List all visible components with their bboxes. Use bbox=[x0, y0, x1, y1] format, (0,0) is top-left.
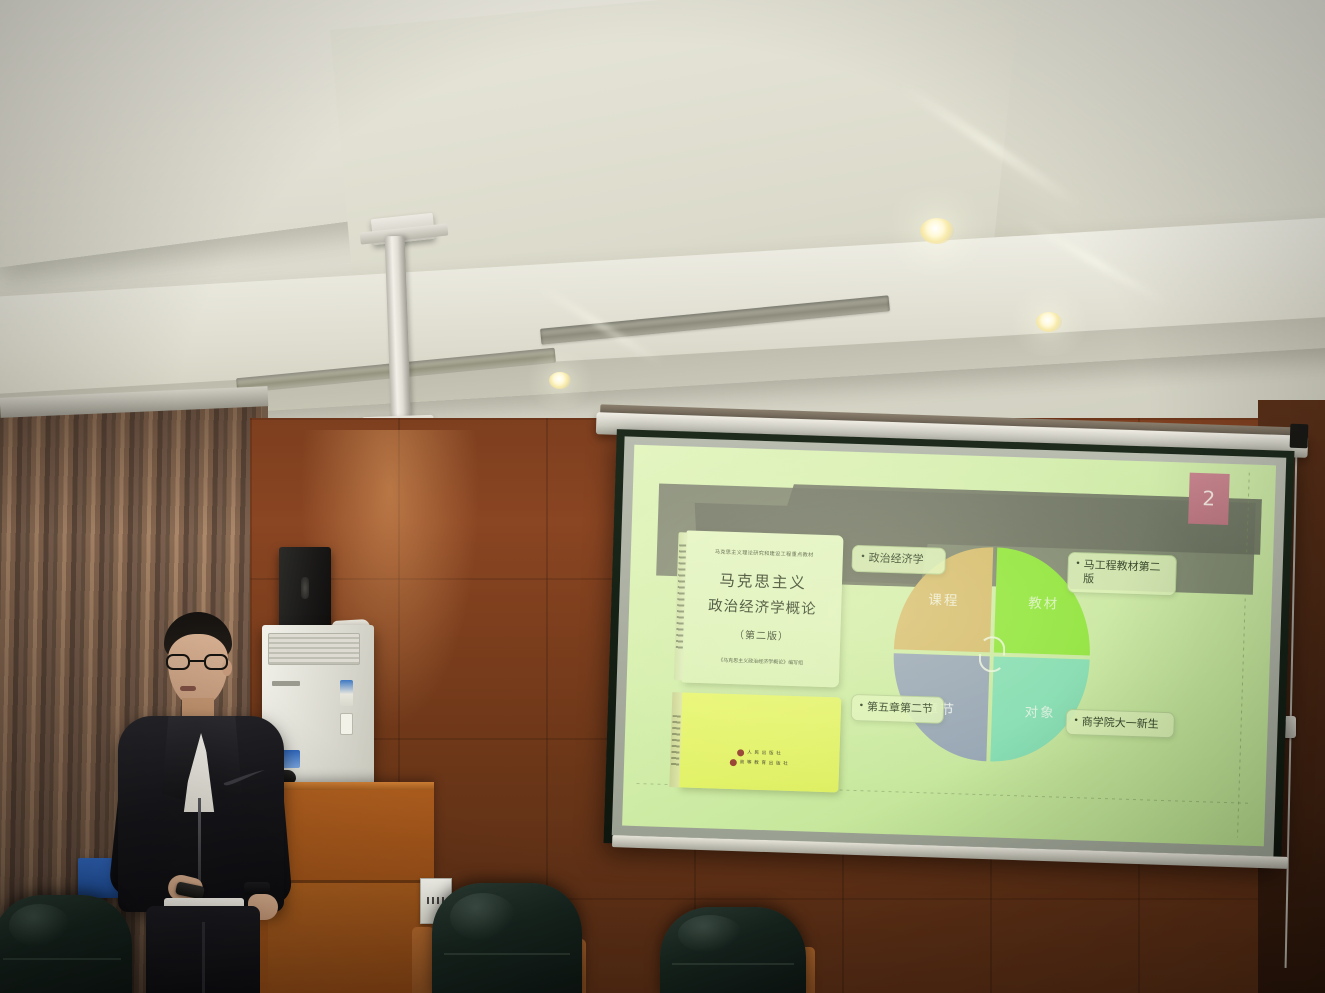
book-cover-primary: 马克思主义理论研究和建设工程重点教材 马克思主义 政治经济学概论 （第二版） 《… bbox=[681, 530, 843, 687]
downlight-icon-1 bbox=[920, 218, 954, 244]
lecture-room-photo: 2 马克思主义理论研究和建设工程重点教材 马克思主义 政治经济学概论 （第二版）… bbox=[0, 0, 1325, 993]
circular-arrows-icon bbox=[979, 636, 1006, 673]
callout-course: • 政治经济学 bbox=[852, 545, 946, 575]
callout-text-4: 商学院大一新生 bbox=[1081, 715, 1158, 732]
bullet-icon-4: • bbox=[1073, 715, 1079, 730]
book-spine-text-secondary bbox=[671, 715, 681, 768]
bullet-icon-3: • bbox=[858, 700, 864, 715]
chair-back-center bbox=[432, 883, 582, 993]
publisher-name-2: 高 等 教 育 出 版 社 bbox=[740, 760, 789, 768]
chair-back-right bbox=[660, 907, 806, 993]
presenter-trousers-seam bbox=[202, 922, 205, 993]
downlight-icon-2 bbox=[1036, 312, 1062, 332]
callout-audience: • 商学院大一新生 bbox=[1065, 708, 1175, 738]
book-title-line1: 马克思主义 bbox=[719, 568, 807, 593]
book-cover-secondary: 人 民 出 版 社 高 等 教 育 出 版 社 bbox=[678, 692, 841, 792]
bullet-icon-1: • bbox=[860, 551, 866, 566]
publisher-logos: 人 民 出 版 社 高 等 教 育 出 版 社 bbox=[729, 749, 788, 768]
presenter-mouth bbox=[180, 686, 196, 691]
screen-housing-bracket bbox=[1290, 424, 1309, 449]
publisher-mark-icon-2 bbox=[729, 759, 736, 766]
book-title-line2: 政治经济学概论 bbox=[708, 595, 817, 619]
callout-text-1: 政治经济学 bbox=[868, 552, 923, 569]
downlight-icon-3 bbox=[549, 372, 571, 389]
chair-back-left bbox=[0, 895, 132, 993]
presenter bbox=[110, 612, 290, 993]
screen-surface: 2 马克思主义理论研究和建设工程重点教材 马克思主义 政治经济学概论 （第二版）… bbox=[622, 445, 1276, 847]
projection-screen: 2 马克思主义理论研究和建设工程重点教材 马克思主义 政治经济学概论 （第二版）… bbox=[603, 429, 1294, 865]
glasses-icon bbox=[166, 654, 228, 670]
book-edition: （第二版） bbox=[734, 626, 789, 643]
callout-text-3: 第五章第二节 bbox=[867, 700, 933, 717]
book-author-line: 《马克思主义政治经济学概论》编写组 bbox=[718, 656, 803, 666]
slide-number-badge: 2 bbox=[1188, 472, 1229, 525]
four-quadrant-pie-diagram: 课程 教材 章节 对象 bbox=[891, 545, 1094, 765]
swoosh-logo-icon bbox=[222, 770, 266, 786]
podium-lower-panel bbox=[268, 883, 434, 993]
bullet-icon-2: • bbox=[1075, 558, 1081, 588]
chair-frame-b bbox=[412, 927, 434, 993]
callout-textbook: • 马工程教材第二版 bbox=[1066, 551, 1176, 596]
callout-chapter: • 第五章第二节 bbox=[850, 694, 944, 724]
publisher-name-1: 人 民 出 版 社 bbox=[747, 750, 781, 757]
screen-mat-border: 2 马克思主义理论研究和建设工程重点教材 马克思主义 政治经济学概论 （第二版）… bbox=[612, 436, 1287, 856]
book-header-line: 马克思主义理论研究和建设工程重点教材 bbox=[715, 548, 814, 558]
slide-content: 2 马克思主义理论研究和建设工程重点教材 马克思主义 政治经济学概论 （第二版）… bbox=[622, 445, 1276, 847]
presenter-face bbox=[168, 634, 228, 706]
callout-text-2: 马工程教材第二版 bbox=[1083, 558, 1169, 590]
publisher-mark-icon-1 bbox=[737, 749, 744, 756]
